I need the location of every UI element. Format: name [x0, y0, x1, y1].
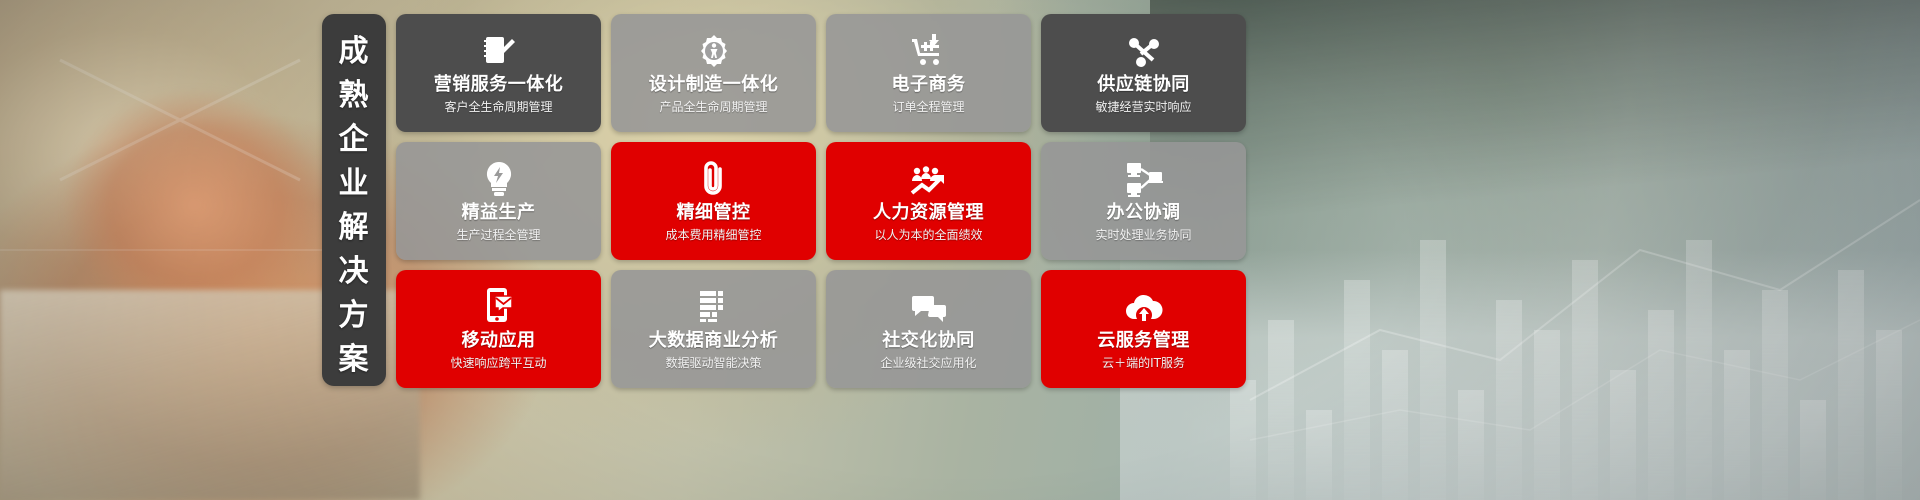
solution-card-title: 云服务管理: [1097, 331, 1190, 352]
gear-person-icon: [696, 29, 732, 69]
solution-card-title: 精益生产: [462, 203, 536, 224]
banner-char: 决: [339, 250, 370, 294]
solution-card-title: 办公协调: [1107, 203, 1181, 224]
solution-card[interactable]: 人力资源管理以人为本的全面绩效: [826, 142, 1031, 260]
people-growth-icon: [909, 157, 949, 197]
banner-stage: 成熟企业解决方案 营销服务一体化客户全生命周期管理设计制造一体化产品全生命周期管…: [0, 0, 1920, 500]
solution-card-subtitle: 数据驱动智能决策: [665, 356, 761, 370]
solution-card-subtitle: 客户全生命周期管理: [444, 100, 552, 114]
solution-card[interactable]: 供应链协同敏捷经营实时响应: [1041, 14, 1246, 132]
solution-card-subtitle: 产品全生命周期管理: [659, 100, 767, 114]
banner-char: 解: [339, 206, 370, 250]
vertical-title-banner: 成熟企业解决方案: [322, 14, 386, 386]
shopping-cart-download-icon: [910, 29, 948, 69]
database-chart-icon: [697, 285, 731, 325]
chat-bubbles-icon: [910, 285, 948, 325]
solution-card-subtitle: 实时处理业务协同: [1095, 228, 1191, 242]
solution-card[interactable]: 电子商务订单全程管理: [826, 14, 1031, 132]
solution-card-title: 社交化协同: [882, 331, 975, 352]
banner-char: 案: [339, 338, 370, 382]
share-network-icon: [1126, 29, 1162, 69]
solution-card[interactable]: 云服务管理云＋端的IT服务: [1041, 270, 1246, 388]
solution-card-subtitle: 生产过程全管理: [456, 228, 540, 242]
computer-network-icon: [1124, 157, 1164, 197]
solution-card-subtitle: 以人为本的全面绩效: [874, 228, 982, 242]
solution-card-subtitle: 成本费用精细管控: [665, 228, 761, 242]
banner-char: 方: [339, 294, 370, 338]
solution-card-subtitle: 云＋端的IT服务: [1102, 356, 1185, 370]
solution-card[interactable]: 营销服务一体化客户全生命周期管理: [396, 14, 601, 132]
solution-card-subtitle: 快速响应跨平互动: [450, 356, 546, 370]
solution-card-title: 大数据商业分析: [649, 331, 779, 352]
solution-card-subtitle: 企业级社交应用化: [880, 356, 976, 370]
banner-char: 熟: [339, 74, 370, 118]
clipboard-pen-icon: [481, 29, 517, 69]
paperclip-icon: [699, 157, 729, 197]
solution-card-title: 设计制造一体化: [649, 75, 779, 96]
solution-card-title: 营销服务一体化: [434, 75, 564, 96]
solution-card-subtitle: 订单全程管理: [892, 100, 964, 114]
solution-card-title: 精细管控: [677, 203, 751, 224]
solution-card-title: 移动应用: [462, 331, 536, 352]
solution-card[interactable]: 社交化协同企业级社交应用化: [826, 270, 1031, 388]
solution-card[interactable]: 大数据商业分析数据驱动智能决策: [611, 270, 816, 388]
lightbulb-bolt-icon: [483, 157, 515, 197]
solution-card-title: 供应链协同: [1097, 75, 1190, 96]
banner-char: 业: [339, 162, 370, 206]
solution-card-title: 人力资源管理: [873, 203, 984, 224]
solution-card[interactable]: 办公协调实时处理业务协同: [1041, 142, 1246, 260]
solution-card[interactable]: 精细管控成本费用精细管控: [611, 142, 816, 260]
solution-card-grid: 营销服务一体化客户全生命周期管理设计制造一体化产品全生命周期管理电子商务订单全程…: [396, 14, 1246, 388]
solution-card-subtitle: 敏捷经营实时响应: [1095, 100, 1191, 114]
solution-card[interactable]: 移动应用快速响应跨平互动: [396, 270, 601, 388]
banner-char: 成: [339, 30, 370, 74]
mobile-message-icon: [484, 285, 514, 325]
cloud-upload-icon: [1124, 285, 1164, 325]
solution-card[interactable]: 设计制造一体化产品全生命周期管理: [611, 14, 816, 132]
solution-card-title: 电子商务: [892, 75, 966, 96]
solution-card[interactable]: 精益生产生产过程全管理: [396, 142, 601, 260]
banner-char: 企: [339, 118, 370, 162]
solutions-panel: 成熟企业解决方案 营销服务一体化客户全生命周期管理设计制造一体化产品全生命周期管…: [322, 14, 1246, 388]
